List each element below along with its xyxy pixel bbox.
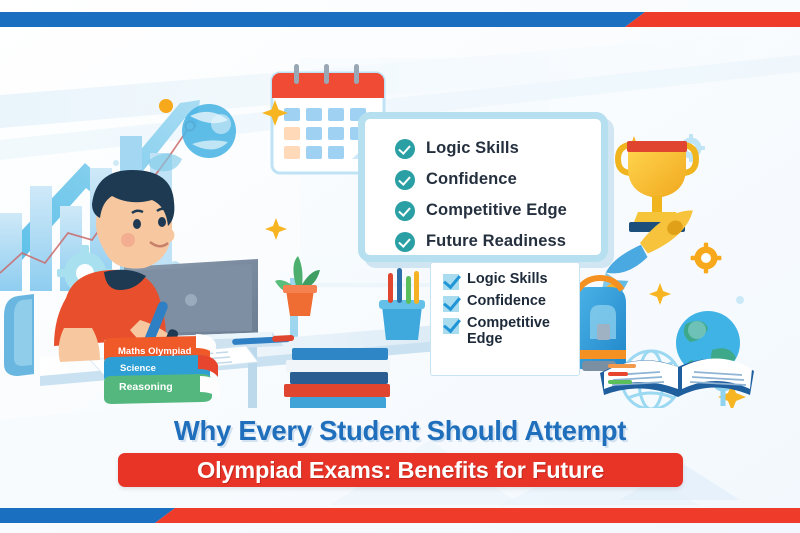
benefit-label: Confidence	[467, 294, 546, 310]
book-stack-icon	[284, 348, 390, 408]
benefits-card-primary: Logic Skills Confidence Competitive Edge…	[358, 112, 608, 262]
benefit-label: Logic Skills	[426, 139, 519, 158]
check-circle-icon	[395, 170, 415, 190]
benefit-label: Future Readiness	[426, 232, 566, 251]
backpack-icon	[572, 278, 626, 371]
headline-banner: Olympiad Exams: Benefits for Future	[118, 453, 683, 487]
list-item: Logic Skills	[395, 133, 567, 164]
benefit-label: Competitive Edge	[467, 316, 573, 347]
benefits-list-secondary: Logic Skills Confidence Competitive Edge	[443, 272, 573, 351]
check-circle-icon	[395, 201, 415, 221]
dot-orange	[159, 99, 173, 113]
list-item: Future Readiness	[395, 226, 567, 257]
gear-icon	[691, 243, 722, 274]
list-item: Confidence	[443, 294, 573, 312]
benefits-list-primary: Logic Skills Confidence Competitive Edge…	[395, 133, 567, 257]
list-item: Competitive Edge	[443, 316, 573, 347]
check-square-icon	[443, 296, 459, 312]
check-circle-icon	[395, 232, 415, 252]
benefit-label: Competitive Edge	[426, 201, 567, 220]
book-spine-label: Science	[120, 363, 156, 374]
dot-small	[113, 160, 119, 166]
list-item: Confidence	[395, 164, 567, 195]
headline-line-1: Why Every Student Should Attempt	[0, 415, 800, 447]
check-circle-icon	[395, 139, 415, 159]
bottom-accent-bar	[0, 508, 800, 523]
promotional-banner: Logic Skills Confidence Competitive Edge…	[0, 0, 800, 533]
check-square-icon	[443, 274, 459, 290]
check-square-icon	[443, 318, 459, 334]
book-spine-label: Maths Olympiad	[118, 346, 191, 357]
list-item: Competitive Edge	[395, 195, 567, 226]
top-accent-bar	[0, 12, 800, 27]
benefits-card-secondary: Logic Skills Confidence Competitive Edge	[430, 262, 580, 376]
benefit-label: Logic Skills	[467, 272, 548, 288]
dot-small	[736, 296, 744, 304]
headline-line-2: Olympiad Exams: Benefits for Future	[197, 457, 604, 484]
list-item: Logic Skills	[443, 272, 573, 290]
globe-icon	[182, 104, 236, 158]
benefit-label: Confidence	[426, 170, 517, 189]
book-spine-label: Reasoning	[119, 381, 173, 393]
